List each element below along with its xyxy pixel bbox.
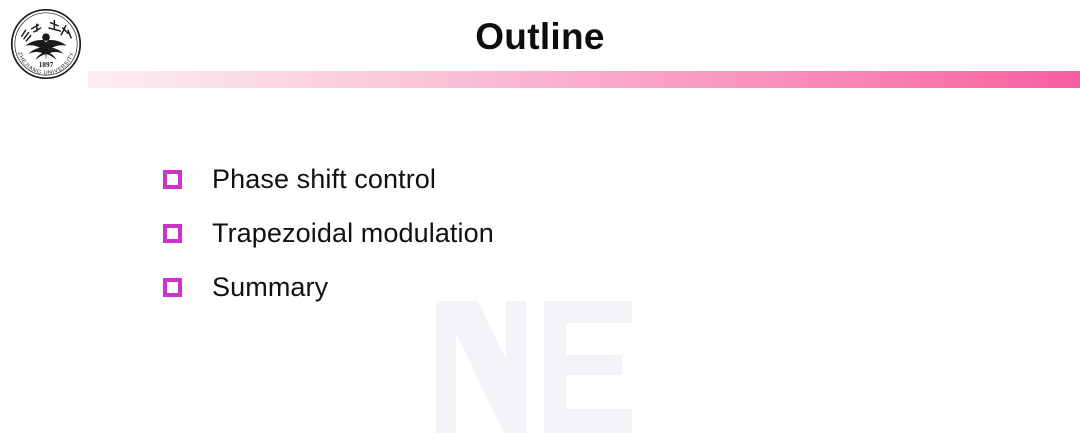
square-bullet-icon <box>163 278 182 297</box>
title-divider-bar <box>88 71 1080 88</box>
list-item[interactable]: Phase shift control <box>163 152 963 206</box>
presentation-slide: 1897 ZHEJIANG UNIVERSITY Outline <box>0 0 1080 433</box>
list-item[interactable]: Trapezoidal modulation <box>163 206 963 260</box>
page-title: Outline <box>0 14 1080 60</box>
list-item-label: Summary <box>212 272 328 303</box>
ne-watermark <box>432 297 642 433</box>
square-bullet-icon <box>163 170 182 189</box>
list-item-label: Trapezoidal modulation <box>212 218 494 249</box>
square-bullet-icon <box>163 224 182 243</box>
outline-bullet-list: Phase shift control Trapezoidal modulati… <box>163 152 963 314</box>
list-item[interactable]: Summary <box>163 260 963 314</box>
logo-year: 1897 <box>39 61 54 69</box>
list-item-label: Phase shift control <box>212 164 436 195</box>
